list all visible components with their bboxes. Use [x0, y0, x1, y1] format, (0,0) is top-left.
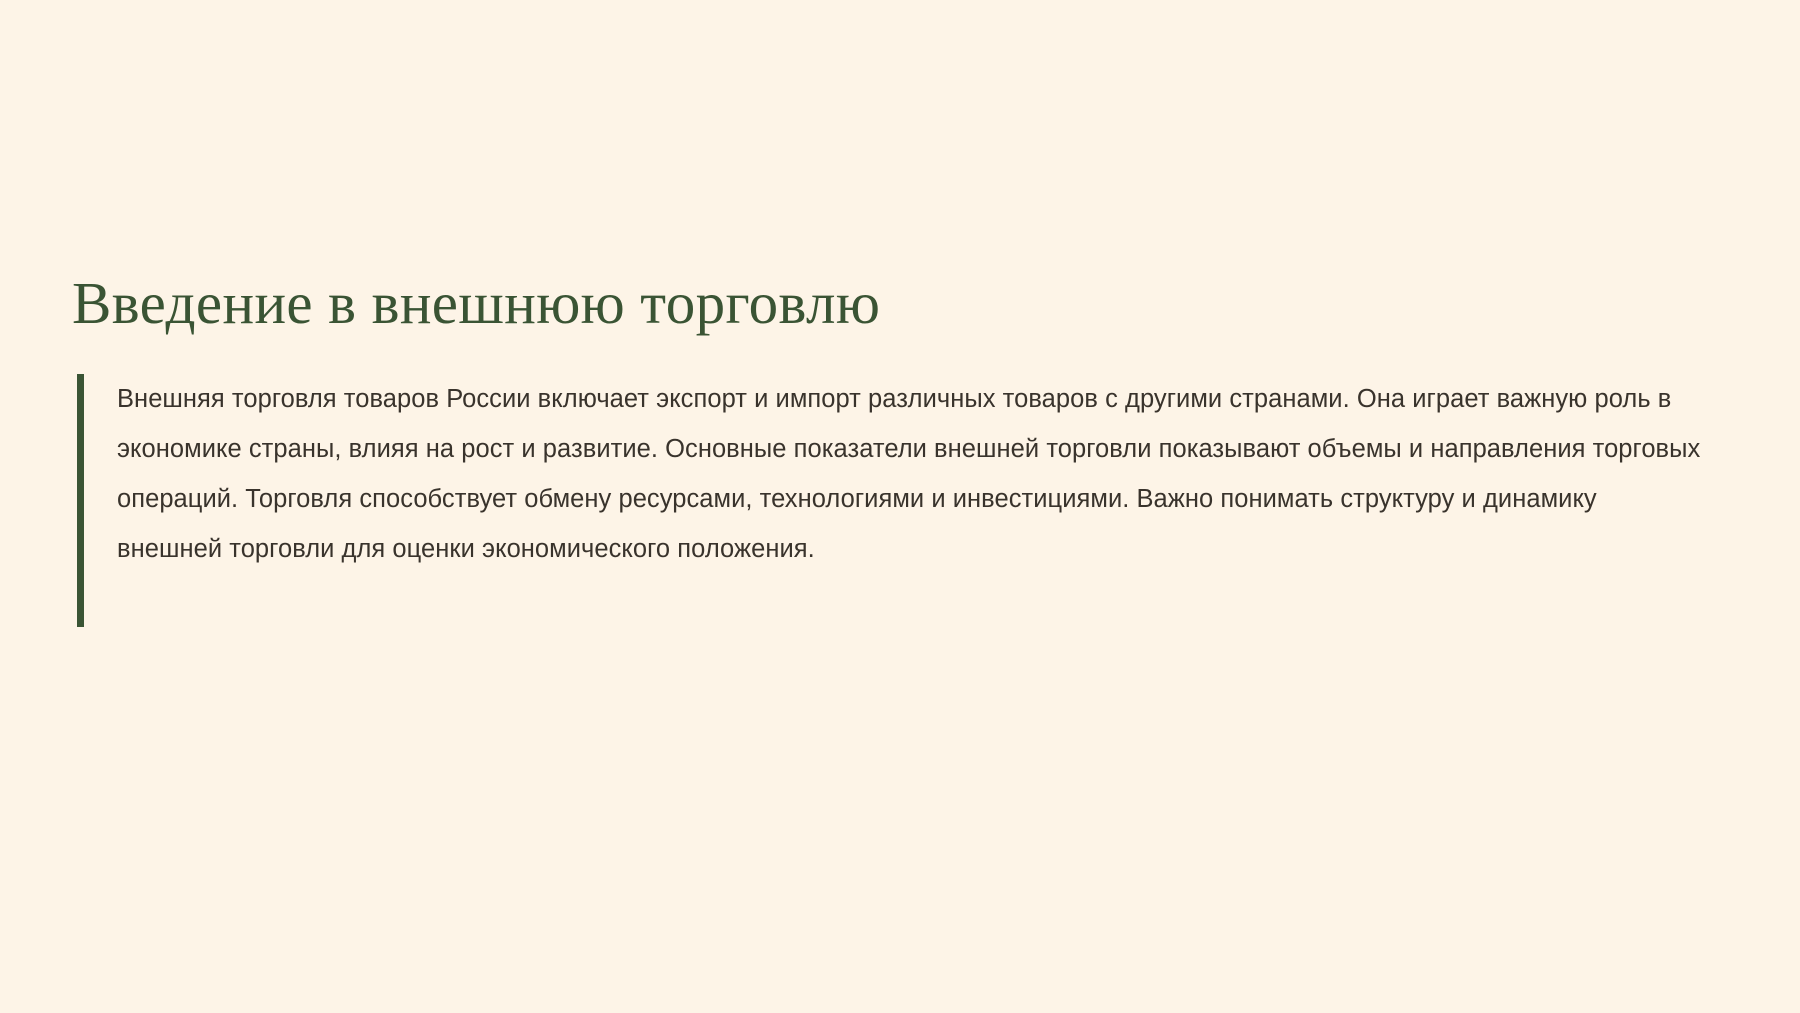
slide-root: Введение в внешнюю торговлю Внешняя торг… [0, 0, 1800, 1013]
slide-content: Введение в внешнюю торговлю Внешняя торг… [72, 270, 1732, 628]
page-title: Введение в внешнюю торговлю [72, 270, 1732, 336]
intro-blockquote: Внешняя торговля товаров России включает… [72, 374, 1732, 628]
accent-bar [77, 374, 84, 627]
intro-paragraph: Внешняя торговля товаров России включает… [117, 374, 1702, 574]
